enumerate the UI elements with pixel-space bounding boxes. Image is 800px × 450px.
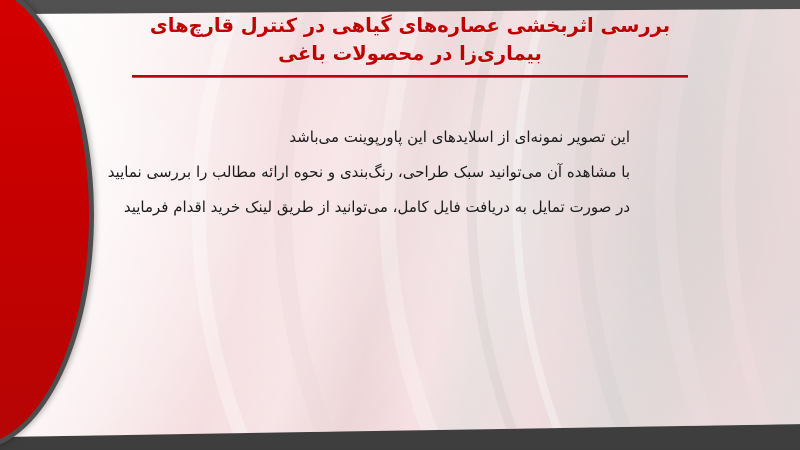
title-underline-rule — [132, 75, 688, 78]
slide-title-line-2: بیماری‌زا در محصولات باغی — [120, 40, 700, 68]
body-line-3: در صورت تمایل به دریافت فایل کامل، می‌تو… — [170, 190, 630, 225]
body-line-1: این تصویر نمونه‌ای از اسلایدهای این پاور… — [170, 120, 630, 155]
slide-title-line-1: بررسی اثربخشی عصاره‌های گیاهی در کنترل ق… — [120, 12, 700, 40]
slide-body-text: این تصویر نمونه‌ای از اسلایدهای این پاور… — [170, 120, 630, 225]
slide-title: بررسی اثربخشی عصاره‌های گیاهی در کنترل ق… — [120, 12, 700, 78]
body-line-2: با مشاهده آن می‌توانید سبک طراحی، رنگ‌بن… — [170, 155, 630, 190]
presentation-slide: بررسی اثربخشی عصاره‌های گیاهی در کنترل ق… — [0, 0, 800, 450]
